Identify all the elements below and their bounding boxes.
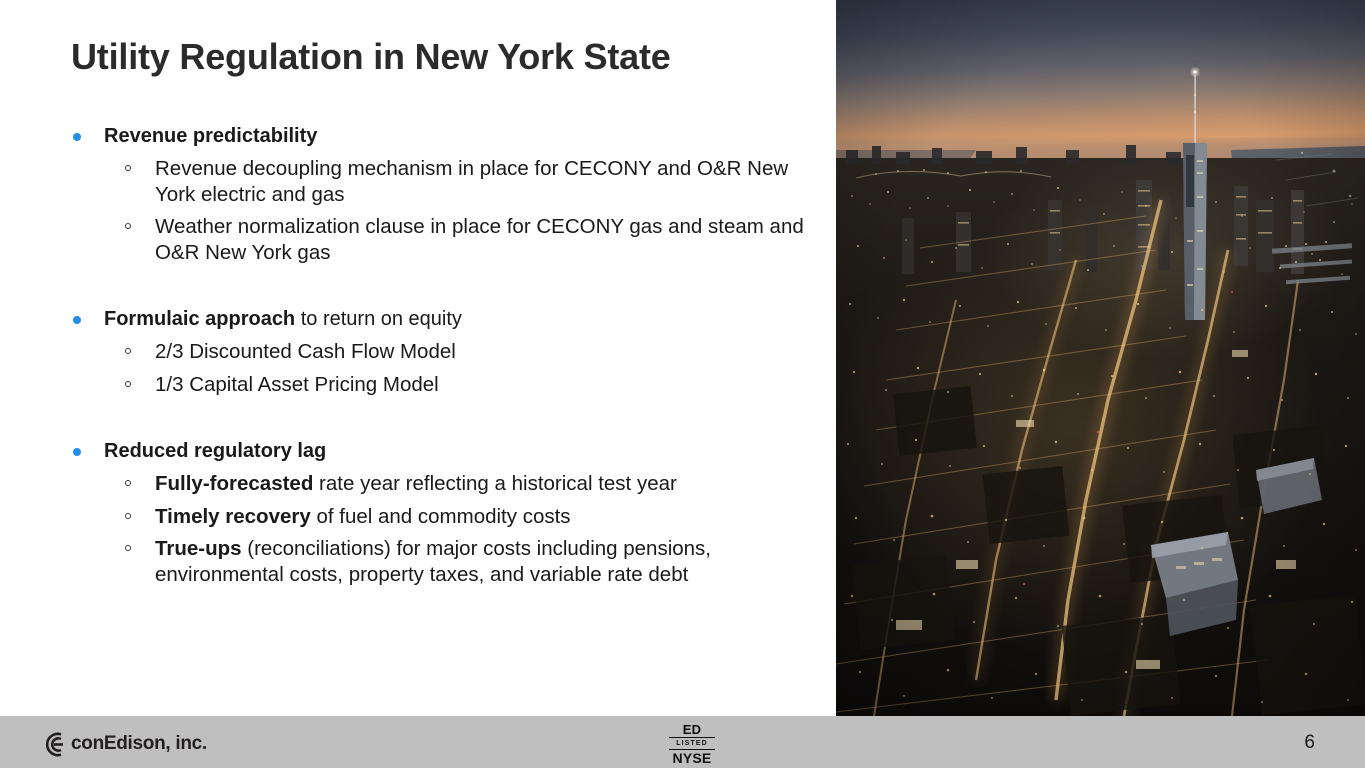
sub-item-text: rate year reflecting a historical test y… xyxy=(313,472,676,495)
bullet-ring-icon xyxy=(125,480,131,486)
nyse-listed-badge: ED LISTED NYSE xyxy=(669,723,715,766)
bullet-level2-item: True-ups (reconciliations) for major cos… xyxy=(64,536,824,587)
bullet-dot-icon xyxy=(73,316,81,324)
page-number: 6 xyxy=(1304,732,1315,754)
sub-item-text: 1/3 Capital Asset Pricing Model xyxy=(155,373,439,396)
bullet-level1-heading: Revenue predictability xyxy=(64,122,824,150)
nyse-listed-label: LISTED xyxy=(669,737,715,750)
bullet-level2-item: Revenue decoupling mechanism in place fo… xyxy=(64,156,824,207)
bullet-group-3: Reduced regulatory lag Fully-forecasted … xyxy=(64,437,824,587)
skyline-photo xyxy=(836,0,1365,716)
bullet-group-2: Formulaic approach to return on equity 2… xyxy=(64,305,824,397)
nyse-exchange-label: NYSE xyxy=(669,751,715,766)
bullet-level2-item: Fully-forecasted rate year reflecting a … xyxy=(64,471,824,497)
slide: Utility Regulation in New York State Rev… xyxy=(0,0,1365,768)
bullet-heading-bold: Reduced regulatory lag xyxy=(104,440,326,462)
sub-item-text: 2/3 Discounted Cash Flow Model xyxy=(155,340,456,363)
bullet-ring-icon xyxy=(125,348,131,354)
conedison-logo-text: conEdison, inc. xyxy=(71,733,207,755)
bullet-group-1: Revenue predictability Revenue decouplin… xyxy=(64,122,824,265)
conedison-logo-icon xyxy=(30,731,64,758)
content-body: Revenue predictability Revenue decouplin… xyxy=(64,122,824,605)
group-spacer xyxy=(64,415,824,437)
conedison-logo: conEdison, inc. xyxy=(30,729,207,759)
page-title: Utility Regulation in New York State xyxy=(71,34,811,80)
sub-item-text: of fuel and commodity costs xyxy=(311,505,571,528)
bullet-level1-heading: Reduced regulatory lag xyxy=(64,437,824,465)
bullet-level2-item: 1/3 Capital Asset Pricing Model xyxy=(64,372,824,398)
bullet-level1-heading: Formulaic approach to return on equity xyxy=(64,305,824,333)
group-spacer xyxy=(64,283,824,305)
bullet-level2-item: 2/3 Discounted Cash Flow Model xyxy=(64,339,824,365)
bullet-heading-normal: to return on equity xyxy=(295,308,462,330)
bullet-level2-item: Timely recovery of fuel and commodity co… xyxy=(64,504,824,530)
sub-item-bold: Fully-forecasted xyxy=(155,472,313,495)
sub-item-bold: True-ups xyxy=(155,537,242,560)
bullet-ring-icon xyxy=(125,545,131,551)
nyse-ticker: ED xyxy=(669,723,715,736)
bullet-level2-item: Weather normalization clause in place fo… xyxy=(64,214,824,265)
bullet-ring-icon xyxy=(125,223,131,229)
bullet-heading-bold: Formulaic approach xyxy=(104,308,295,330)
sub-item-text: Revenue decoupling mechanism in place fo… xyxy=(155,157,788,206)
sub-item-text: Weather normalization clause in place fo… xyxy=(155,215,804,264)
bullet-ring-icon xyxy=(125,513,131,519)
bullet-ring-icon xyxy=(125,165,131,171)
sub-item-bold: Timely recovery xyxy=(155,505,311,528)
bullet-ring-icon xyxy=(125,381,131,387)
bullet-dot-icon xyxy=(73,448,81,456)
bullet-heading-bold: Revenue predictability xyxy=(104,125,317,147)
bullet-dot-icon xyxy=(73,133,81,141)
